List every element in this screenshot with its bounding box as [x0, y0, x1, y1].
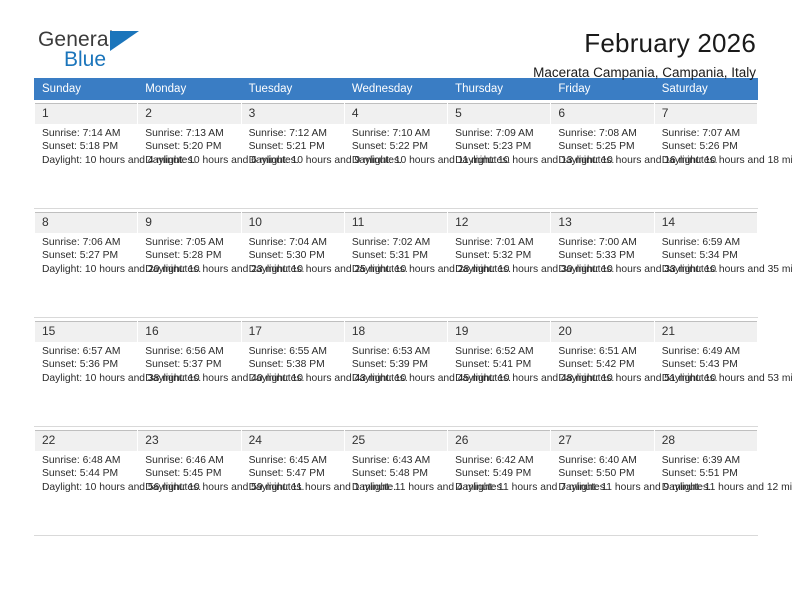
- sunset-text: Sunset: 5:33 PM: [558, 249, 646, 262]
- weekday-header-monday: Monday: [138, 79, 241, 100]
- day-number: 3: [242, 103, 344, 124]
- sunset-text: Sunset: 5:18 PM: [42, 140, 130, 153]
- daylight-text: Daylight: 10 hours and 13 minutes.: [455, 154, 543, 167]
- day-cell[interactable]: 24Sunrise: 6:45 AMSunset: 5:47 PMDayligh…: [241, 427, 344, 536]
- day-number: 13: [551, 212, 653, 233]
- day-number: 12: [448, 212, 550, 233]
- sunset-text: Sunset: 5:51 PM: [662, 467, 750, 480]
- page-title: February 2026: [533, 28, 756, 58]
- sunset-text: Sunset: 5:20 PM: [145, 140, 233, 153]
- sunrise-text: Sunrise: 6:57 AM: [42, 345, 130, 358]
- sunrise-text: Sunrise: 7:09 AM: [455, 127, 543, 140]
- page-subtitle: Macerata Campania, Campania, Italy: [533, 63, 756, 83]
- day-number: 22: [35, 430, 137, 451]
- daylight-text: Daylight: 10 hours and 28 minutes.: [352, 263, 440, 276]
- daylight-text: Daylight: 10 hours and 23 minutes.: [145, 263, 233, 276]
- day-number: 7: [655, 103, 757, 124]
- day-number: 5: [448, 103, 550, 124]
- calendar-page: General Blue February 2026 Macerata Camp…: [0, 0, 792, 612]
- sunrise-text: Sunrise: 6:56 AM: [145, 345, 233, 358]
- triangle-icon: [110, 31, 139, 51]
- day-cell[interactable]: 9Sunrise: 7:05 AMSunset: 5:28 PMDaylight…: [138, 209, 241, 318]
- sunset-text: Sunset: 5:31 PM: [352, 249, 440, 262]
- sunrise-text: Sunrise: 7:07 AM: [662, 127, 750, 140]
- sunrise-text: Sunrise: 7:00 AM: [558, 236, 646, 249]
- sunrise-text: Sunrise: 7:10 AM: [352, 127, 440, 140]
- daylight-text: Daylight: 10 hours and 11 minutes.: [352, 154, 440, 167]
- day-number: 24: [242, 430, 344, 451]
- day-number: 2: [138, 103, 240, 124]
- day-cell[interactable]: 8Sunrise: 7:06 AMSunset: 5:27 PMDaylight…: [35, 209, 138, 318]
- sunrise-text: Sunrise: 7:08 AM: [558, 127, 646, 140]
- day-number: 1: [35, 103, 137, 124]
- day-number: 17: [242, 321, 344, 342]
- daylight-text: Daylight: 10 hours and 4 minutes.: [42, 154, 130, 167]
- day-number: 20: [551, 321, 653, 342]
- sunset-text: Sunset: 5:45 PM: [145, 467, 233, 480]
- weekday-header-tuesday: Tuesday: [241, 79, 344, 100]
- daylight-text: Daylight: 10 hours and 38 minutes.: [42, 372, 130, 385]
- daylight-text: Daylight: 10 hours and 6 minutes.: [145, 154, 233, 167]
- sunset-text: Sunset: 5:49 PM: [455, 467, 543, 480]
- day-number: 4: [345, 103, 447, 124]
- sunrise-text: Sunrise: 7:02 AM: [352, 236, 440, 249]
- sunrise-text: Sunrise: 6:46 AM: [145, 454, 233, 467]
- week-row: 8Sunrise: 7:06 AMSunset: 5:27 PMDaylight…: [35, 209, 758, 318]
- week-row: 1Sunrise: 7:14 AMSunset: 5:18 PMDaylight…: [35, 100, 758, 209]
- sunrise-text: Sunrise: 7:13 AM: [145, 127, 233, 140]
- daylight-text: Daylight: 10 hours and 40 minutes.: [145, 372, 233, 385]
- sunset-text: Sunset: 5:25 PM: [558, 140, 646, 153]
- sunset-text: Sunset: 5:50 PM: [558, 467, 646, 480]
- sunset-text: Sunset: 5:48 PM: [352, 467, 440, 480]
- sunrise-text: Sunrise: 6:51 AM: [558, 345, 646, 358]
- sunrise-text: Sunrise: 6:59 AM: [662, 236, 750, 249]
- sunset-text: Sunset: 5:47 PM: [249, 467, 337, 480]
- day-cell[interactable]: 26Sunrise: 6:42 AMSunset: 5:49 PMDayligh…: [448, 427, 551, 536]
- day-cell[interactable]: 23Sunrise: 6:46 AMSunset: 5:45 PMDayligh…: [138, 427, 241, 536]
- day-cell[interactable]: 28Sunrise: 6:39 AMSunset: 5:51 PMDayligh…: [654, 427, 757, 536]
- day-cell[interactable]: 27Sunrise: 6:40 AMSunset: 5:50 PMDayligh…: [551, 427, 654, 536]
- day-number: 18: [345, 321, 447, 342]
- day-cell[interactable]: 4Sunrise: 7:10 AMSunset: 5:22 PMDaylight…: [344, 100, 447, 209]
- sunrise-text: Sunrise: 7:05 AM: [145, 236, 233, 249]
- sunrise-text: Sunrise: 7:12 AM: [249, 127, 337, 140]
- day-number: 27: [551, 430, 653, 451]
- day-number: 15: [35, 321, 137, 342]
- calendar-table: Sunday Monday Tuesday Wednesday Thursday…: [34, 78, 758, 536]
- day-number: 21: [655, 321, 757, 342]
- day-cell[interactable]: 21Sunrise: 6:49 AMSunset: 5:43 PMDayligh…: [654, 318, 757, 427]
- weekday-header-wednesday: Wednesday: [344, 79, 447, 100]
- day-number: 14: [655, 212, 757, 233]
- day-cell[interactable]: 1Sunrise: 7:14 AMSunset: 5:18 PMDaylight…: [35, 100, 138, 209]
- daylight-text: Daylight: 11 hours and 7 minutes.: [455, 481, 543, 494]
- day-cell[interactable]: 7Sunrise: 7:07 AMSunset: 5:26 PMDaylight…: [654, 100, 757, 209]
- day-cell[interactable]: 18Sunrise: 6:53 AMSunset: 5:39 PMDayligh…: [344, 318, 447, 427]
- daylight-text: Daylight: 10 hours and 48 minutes.: [455, 372, 543, 385]
- sunrise-text: Sunrise: 7:14 AM: [42, 127, 130, 140]
- sunset-text: Sunset: 5:41 PM: [455, 358, 543, 371]
- daylight-text: Daylight: 10 hours and 20 minutes.: [42, 263, 130, 276]
- day-cell[interactable]: 20Sunrise: 6:51 AMSunset: 5:42 PMDayligh…: [551, 318, 654, 427]
- daylight-text: Daylight: 10 hours and 18 minutes.: [662, 154, 750, 167]
- sunrise-text: Sunrise: 6:42 AM: [455, 454, 543, 467]
- day-cell[interactable]: 14Sunrise: 6:59 AMSunset: 5:34 PMDayligh…: [654, 209, 757, 318]
- sunset-text: Sunset: 5:39 PM: [352, 358, 440, 371]
- sunrise-text: Sunrise: 6:55 AM: [249, 345, 337, 358]
- week-row: 22Sunrise: 6:48 AMSunset: 5:44 PMDayligh…: [35, 427, 758, 536]
- sunrise-text: Sunrise: 6:52 AM: [455, 345, 543, 358]
- sunset-text: Sunset: 5:37 PM: [145, 358, 233, 371]
- sunrise-text: Sunrise: 7:06 AM: [42, 236, 130, 249]
- sunrise-text: Sunrise: 6:49 AM: [662, 345, 750, 358]
- day-cell[interactable]: 19Sunrise: 6:52 AMSunset: 5:41 PMDayligh…: [448, 318, 551, 427]
- day-cell[interactable]: 17Sunrise: 6:55 AMSunset: 5:38 PMDayligh…: [241, 318, 344, 427]
- daylight-text: Daylight: 10 hours and 51 minutes.: [558, 372, 646, 385]
- daylight-text: Daylight: 10 hours and 56 minutes.: [42, 481, 130, 494]
- daylight-text: Daylight: 10 hours and 53 minutes.: [662, 372, 750, 385]
- sunrise-text: Sunrise: 6:53 AM: [352, 345, 440, 358]
- daylight-text: Daylight: 10 hours and 45 minutes.: [352, 372, 440, 385]
- day-cell[interactable]: 2Sunrise: 7:13 AMSunset: 5:20 PMDaylight…: [138, 100, 241, 209]
- sunset-text: Sunset: 5:27 PM: [42, 249, 130, 262]
- sunset-text: Sunset: 5:28 PM: [145, 249, 233, 262]
- sunrise-text: Sunrise: 6:45 AM: [249, 454, 337, 467]
- day-cell[interactable]: 16Sunrise: 6:56 AMSunset: 5:37 PMDayligh…: [138, 318, 241, 427]
- daylight-text: Daylight: 10 hours and 43 minutes.: [249, 372, 337, 385]
- sunset-text: Sunset: 5:44 PM: [42, 467, 130, 480]
- day-number: 25: [345, 430, 447, 451]
- day-number: 11: [345, 212, 447, 233]
- daylight-text: Daylight: 11 hours and 4 minutes.: [352, 481, 440, 494]
- day-number: 28: [655, 430, 757, 451]
- daylight-text: Daylight: 11 hours and 12 minutes.: [662, 481, 750, 494]
- sunset-text: Sunset: 5:21 PM: [249, 140, 337, 153]
- weekday-header-sunday: Sunday: [35, 79, 138, 100]
- sunset-text: Sunset: 5:36 PM: [42, 358, 130, 371]
- sunset-text: Sunset: 5:23 PM: [455, 140, 543, 153]
- sunrise-text: Sunrise: 7:04 AM: [249, 236, 337, 249]
- day-cell[interactable]: 5Sunrise: 7:09 AMSunset: 5:23 PMDaylight…: [448, 100, 551, 209]
- sunset-text: Sunset: 5:32 PM: [455, 249, 543, 262]
- day-number: 19: [448, 321, 550, 342]
- day-cell[interactable]: 6Sunrise: 7:08 AMSunset: 5:25 PMDaylight…: [551, 100, 654, 209]
- sunset-text: Sunset: 5:43 PM: [662, 358, 750, 371]
- day-cell[interactable]: 25Sunrise: 6:43 AMSunset: 5:48 PMDayligh…: [344, 427, 447, 536]
- day-number: 16: [138, 321, 240, 342]
- day-cell[interactable]: 13Sunrise: 7:00 AMSunset: 5:33 PMDayligh…: [551, 209, 654, 318]
- calendar-body: 1Sunrise: 7:14 AMSunset: 5:18 PMDaylight…: [35, 100, 758, 536]
- daylight-text: Daylight: 10 hours and 33 minutes.: [558, 263, 646, 276]
- daylight-text: Daylight: 10 hours and 35 minutes.: [662, 263, 750, 276]
- sunrise-text: Sunrise: 6:40 AM: [558, 454, 646, 467]
- week-row: 15Sunrise: 6:57 AMSunset: 5:36 PMDayligh…: [35, 318, 758, 427]
- daylight-text: Daylight: 10 hours and 25 minutes.: [249, 263, 337, 276]
- brand-name-bottom: Blue: [38, 49, 158, 71]
- sunrise-text: Sunrise: 6:39 AM: [662, 454, 750, 467]
- sunset-text: Sunset: 5:38 PM: [249, 358, 337, 371]
- page-header: General Blue February 2026 Macerata Camp…: [34, 0, 758, 68]
- day-cell[interactable]: 11Sunrise: 7:02 AMSunset: 5:31 PMDayligh…: [344, 209, 447, 318]
- sunset-text: Sunset: 5:34 PM: [662, 249, 750, 262]
- sunset-text: Sunset: 5:42 PM: [558, 358, 646, 371]
- daylight-text: Daylight: 11 hours and 1 minute.: [249, 481, 337, 494]
- daylight-text: Daylight: 10 hours and 30 minutes.: [455, 263, 543, 276]
- sunrise-text: Sunrise: 6:48 AM: [42, 454, 130, 467]
- daylight-text: Daylight: 11 hours and 9 minutes.: [558, 481, 646, 494]
- sunrise-text: Sunrise: 6:43 AM: [352, 454, 440, 467]
- day-number: 10: [242, 212, 344, 233]
- sunset-text: Sunset: 5:30 PM: [249, 249, 337, 262]
- day-cell[interactable]: 12Sunrise: 7:01 AMSunset: 5:32 PMDayligh…: [448, 209, 551, 318]
- title-block: February 2026 Macerata Campania, Campani…: [533, 28, 758, 83]
- daylight-text: Daylight: 10 hours and 16 minutes.: [558, 154, 646, 167]
- sunset-text: Sunset: 5:22 PM: [352, 140, 440, 153]
- sunset-text: Sunset: 5:26 PM: [662, 140, 750, 153]
- day-number: 26: [448, 430, 550, 451]
- brand-logo[interactable]: General Blue: [34, 28, 158, 76]
- daylight-text: Daylight: 10 hours and 9 minutes.: [249, 154, 337, 167]
- day-cell[interactable]: 3Sunrise: 7:12 AMSunset: 5:21 PMDaylight…: [241, 100, 344, 209]
- daylight-text: Daylight: 10 hours and 59 minutes.: [145, 481, 233, 494]
- day-cell[interactable]: 10Sunrise: 7:04 AMSunset: 5:30 PMDayligh…: [241, 209, 344, 318]
- day-cell[interactable]: 22Sunrise: 6:48 AMSunset: 5:44 PMDayligh…: [35, 427, 138, 536]
- day-number: 6: [551, 103, 653, 124]
- sunrise-text: Sunrise: 7:01 AM: [455, 236, 543, 249]
- day-number: 23: [138, 430, 240, 451]
- day-cell[interactable]: 15Sunrise: 6:57 AMSunset: 5:36 PMDayligh…: [35, 318, 138, 427]
- day-number: 8: [35, 212, 137, 233]
- day-number: 9: [138, 212, 240, 233]
